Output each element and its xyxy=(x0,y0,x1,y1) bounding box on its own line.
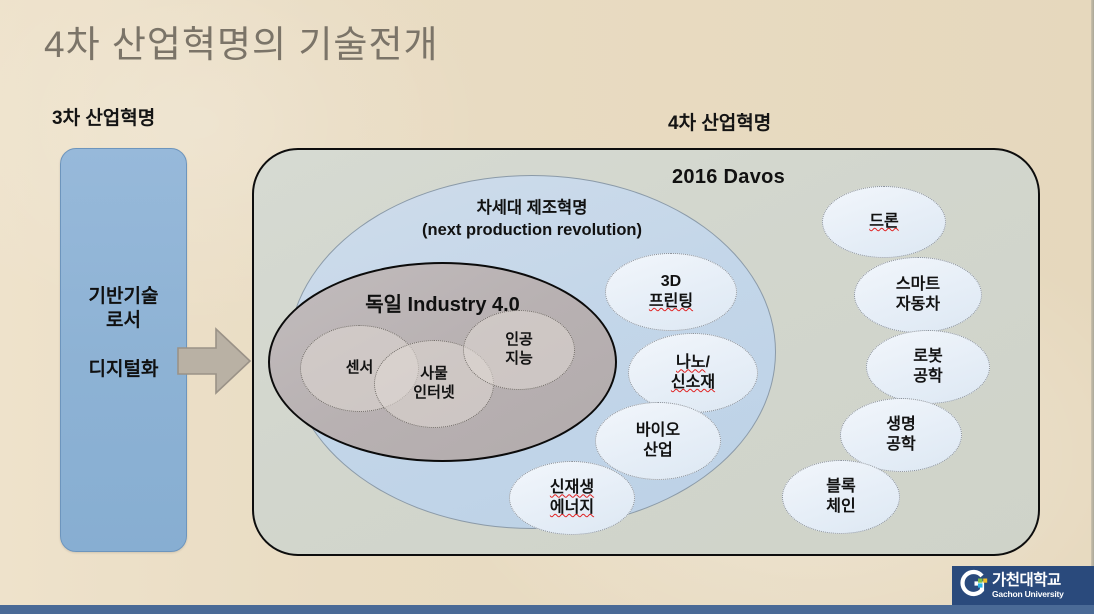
slide-canvas: 4차 산업혁명의 기술전개 3차 산업혁명 4차 산업혁명 기반기술 로서 디지… xyxy=(0,0,1094,614)
tech-ellipse-robotics: 로봇공학 xyxy=(866,330,990,404)
caption-fourth-revolution: 4차 산업혁명 xyxy=(668,108,771,135)
next-production-revolution-label: 차세대 제조혁명 (next production revolution) xyxy=(289,198,775,242)
tech-label: 생명공학 xyxy=(886,415,915,454)
logo-english-name: Gachon University xyxy=(992,590,1064,599)
spellcheck-text: 신재생 xyxy=(550,479,594,496)
tech-label: 3D프린팅 xyxy=(649,272,693,311)
tech-label: 스마트자동차 xyxy=(896,275,940,314)
tech-ellipse-bio-industry: 바이오산업 xyxy=(595,402,721,480)
logo-text-block: 가천대학교 Gachon University xyxy=(992,573,1064,599)
spellcheck-text: 에너지 xyxy=(550,499,594,516)
tech-ellipse-drone: 드론 xyxy=(822,186,946,258)
tech-ellipse-renewable-energy: 신재생에너지 xyxy=(509,461,635,535)
tech-label: 드론 xyxy=(869,212,898,232)
tech-ellipse-3d-printing: 3D프린팅 xyxy=(605,253,737,331)
right-arrow-icon xyxy=(176,323,252,399)
tech-ellipse-blockchain: 블록체인 xyxy=(782,460,900,534)
tech-label: 로봇공학 xyxy=(913,347,942,386)
tech-label: 블록체인 xyxy=(826,477,855,516)
gachon-g-icon xyxy=(958,569,988,602)
base-technology-box: 기반기술 로서 디지털화 xyxy=(60,148,187,552)
base-technology-box-label: 기반기술 로서 디지털화 xyxy=(61,285,186,382)
tech-label: 신재생에너지 xyxy=(550,478,594,517)
tech-ellipse-nano-material: 나노/신소재 xyxy=(628,333,758,413)
page-title: 4차 산업혁명의 기술전개 xyxy=(44,14,439,68)
spellcheck-text: 프린팅 xyxy=(649,293,693,310)
spellcheck-text: 신소재 xyxy=(671,374,715,391)
davos-label: 2016 Davos xyxy=(672,166,785,189)
spellcheck-text: 드론 xyxy=(869,213,898,230)
gachon-university-logo: 가천대학교 Gachon University xyxy=(952,566,1094,605)
tech-ellipse-smart-car: 스마트자동차 xyxy=(854,257,982,333)
spellcheck-text: 나노 xyxy=(676,354,705,371)
tech-label: 바이오산업 xyxy=(636,421,680,460)
tech-label: 나노/신소재 xyxy=(671,353,715,392)
industry40-title: 독일 Industry 4.0 xyxy=(270,288,615,317)
ai-ellipse: 인공 지능 xyxy=(463,310,575,390)
slide-bottom-bar xyxy=(0,605,1094,614)
logo-korean-name: 가천대학교 xyxy=(992,573,1064,589)
caption-third-revolution: 3차 산업혁명 xyxy=(52,103,155,130)
